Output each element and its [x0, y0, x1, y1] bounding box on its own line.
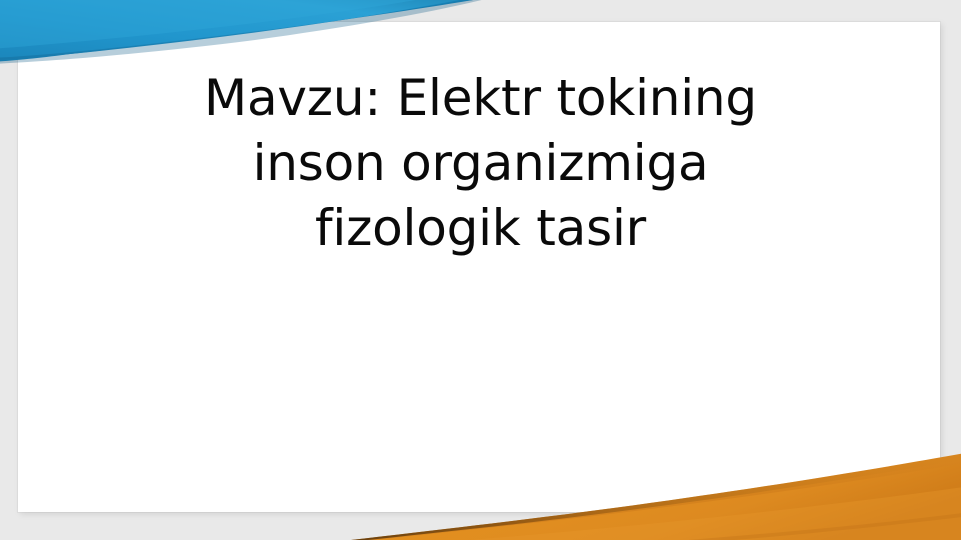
slide-viewport: Mavzu: Elektr tokining inson organizmiga…: [0, 0, 961, 540]
title-line-1: Mavzu: Elektr tokining: [60, 66, 901, 131]
title-line-2: inson organizmiga: [60, 131, 901, 196]
slide-title[interactable]: Mavzu: Elektr tokining inson organizmiga…: [60, 66, 901, 261]
title-line-3: fizologik tasir: [60, 196, 901, 261]
